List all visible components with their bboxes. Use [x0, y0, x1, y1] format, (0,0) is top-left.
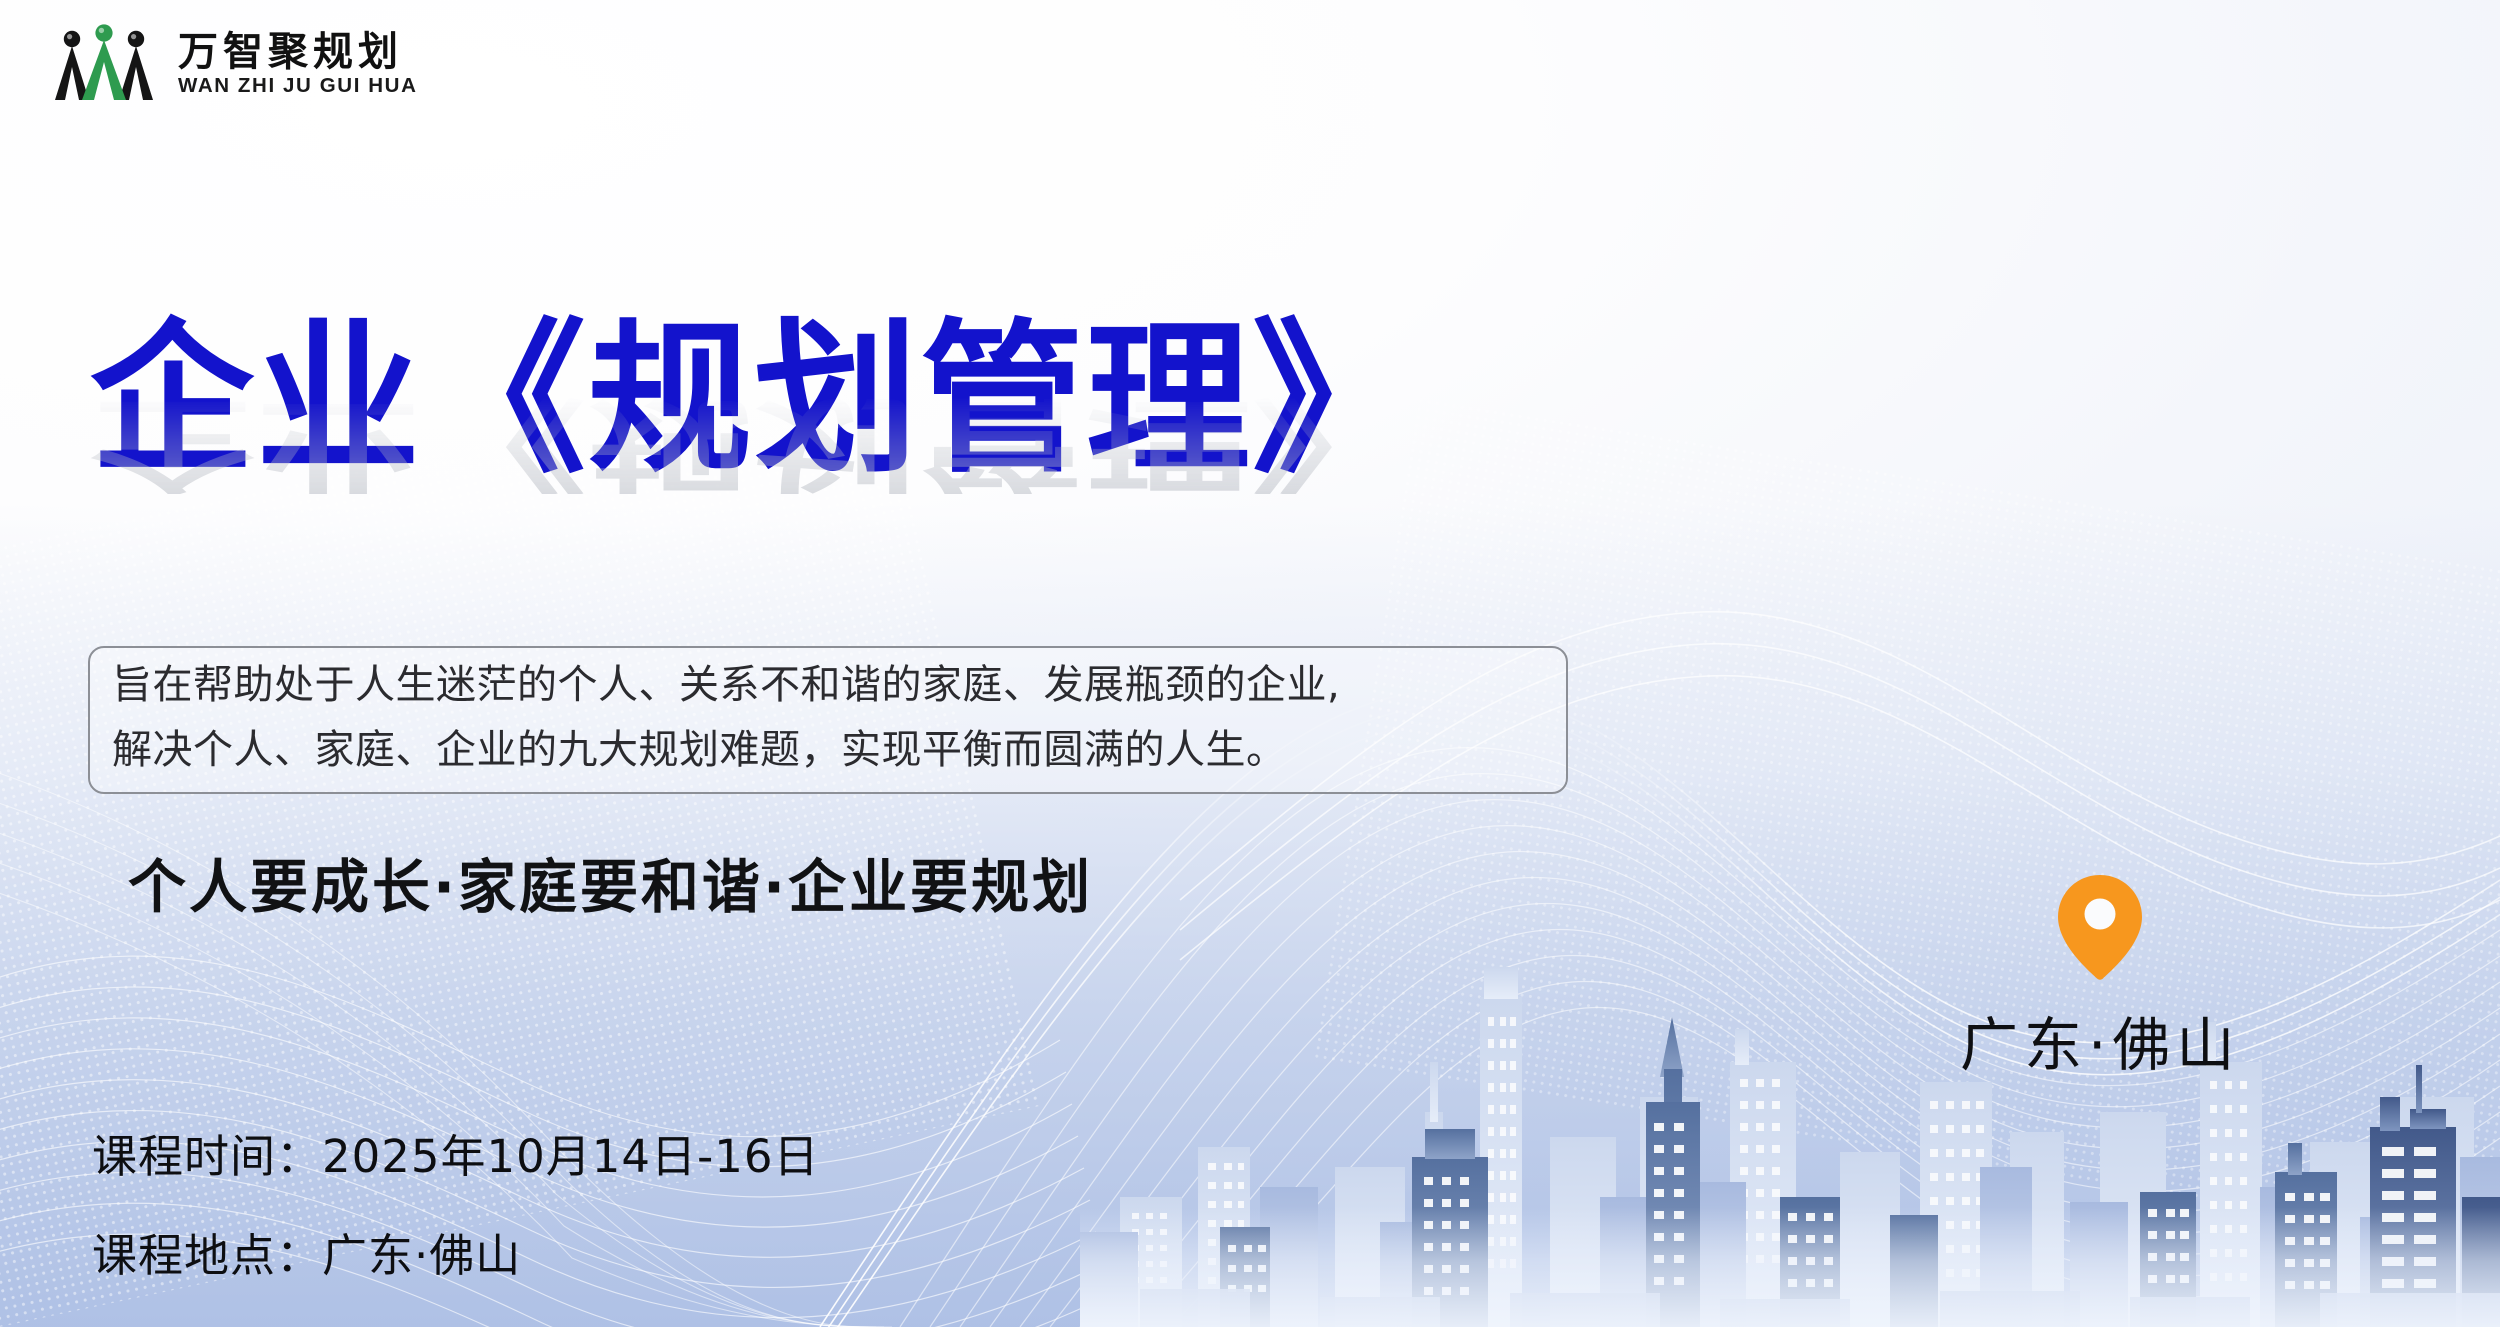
map-pin-icon: [2054, 872, 2146, 982]
page-title: 企业《规划管理》: [90, 318, 1710, 482]
tagline: 个人要成长·家庭要和谐·企业要规划: [128, 840, 1093, 924]
course-time: 课程时间：2025年10月14日-16日: [92, 1120, 820, 1185]
brand-name-cn: 万智聚规划: [178, 31, 418, 73]
brand-logo-text: 万智聚规划 WAN ZHI JU GUI HUA: [178, 29, 418, 97]
location-label: 广东·佛山: [1960, 998, 2240, 1082]
description-line-2: 解决个人、家庭、企业的九大规划难题，实现平衡而圆满的人生。: [112, 718, 1544, 783]
description-line-1: 旨在帮助处于人生迷茫的个人、关系不和谐的家庭、发展瓶颈的企业,: [112, 653, 1544, 718]
location-block: 广东·佛山: [1960, 872, 2240, 1082]
hero-title-block: 企业《规划管理》 企业《规划管理》: [90, 318, 1710, 658]
brand-logo[interactable]: 万智聚规划 WAN ZHI JU GUI HUA: [48, 22, 418, 104]
course-place: 课程地点：广东·佛山: [92, 1219, 820, 1284]
poster-canvas: 万智聚规划 WAN ZHI JU GUI HUA 企业《规划管理》 企业《规划管…: [0, 0, 2500, 1327]
city-skyline-icon: [1080, 897, 2500, 1327]
brand-name-en: WAN ZHI JU GUI HUA: [178, 75, 418, 97]
three-people-m-logo-icon: [48, 22, 160, 104]
description-box: 旨在帮助处于人生迷茫的个人、关系不和谐的家庭、发展瓶颈的企业, 解决个人、家庭、…: [88, 646, 1568, 794]
course-info-block: 课程时间：2025年10月14日-16日 课程地点：广东·佛山: [92, 1120, 820, 1284]
